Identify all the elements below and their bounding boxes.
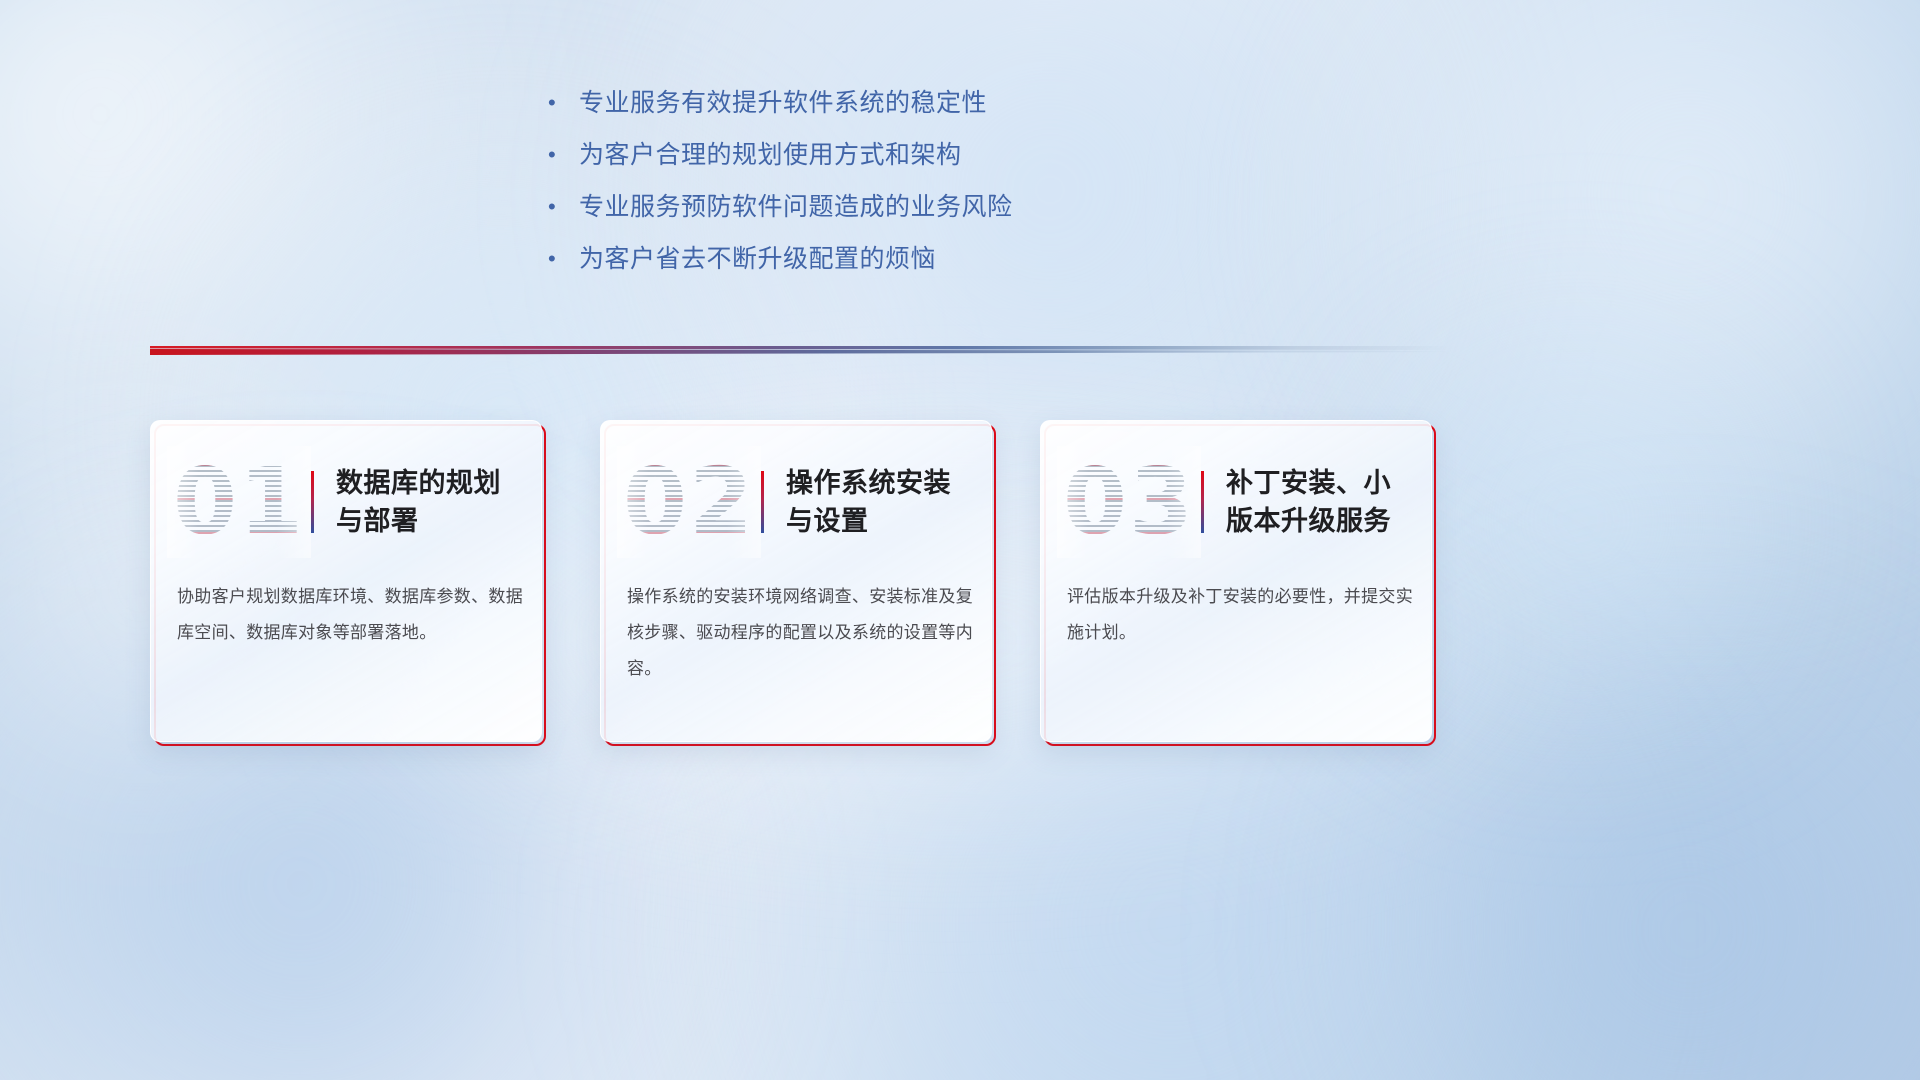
section-divider xyxy=(150,346,1450,364)
card-number-watermark: 03 03 xyxy=(1063,450,1195,554)
card-body-text: 协助客户规划数据库环境、数据库参数、数据库空间、数据库对象等部署落地。 xyxy=(177,579,523,651)
bullet-text: 专业服务有效提升软件系统的稳定性 xyxy=(579,88,987,118)
card-title-accent-bar xyxy=(761,471,764,533)
slide-content: • 专业服务有效提升软件系统的稳定性 • 为客户合理的规划使用方式和架构 • 专… xyxy=(0,0,1920,1080)
card-surface: 03 03 补丁安装、小版本升级服务 评估版本升级及补丁安装的必要性，并提交实施… xyxy=(1040,420,1432,742)
card-surface: 01 01 数据库的规划与部署 协助客户规划数据库环境、数据库参数、数据库空间、… xyxy=(150,420,542,742)
list-item: • 为客户合理的规划使用方式和架构 xyxy=(545,140,1545,192)
benefits-bullet-list: • 专业服务有效提升软件系统的稳定性 • 为客户合理的规划使用方式和架构 • 专… xyxy=(545,88,1545,296)
service-card[interactable]: 02 02 操作系统安装与设置 操作系统的安装环境网络调查、安装标准及复核步骤、… xyxy=(600,420,992,742)
bullet-text: 专业服务预防软件问题造成的业务风险 xyxy=(579,192,1013,222)
card-body-text: 评估版本升级及补丁安装的必要性，并提交实施计划。 xyxy=(1067,579,1413,651)
card-title-accent-bar xyxy=(311,471,314,533)
service-card-group: 01 01 数据库的规划与部署 协助客户规划数据库环境、数据库参数、数据库空间、… xyxy=(150,420,1450,745)
card-title-accent-bar xyxy=(1201,471,1204,533)
card-header: 01 01 数据库的规划与部署 xyxy=(151,447,542,557)
card-header: 02 02 操作系统安装与设置 xyxy=(601,447,992,557)
card-number-text-tint: 02 xyxy=(623,450,755,554)
card-body-text: 操作系统的安装环境网络调查、安装标准及复核步骤、驱动程序的配置以及系统的设置等内… xyxy=(627,579,973,687)
divider-body xyxy=(150,349,1450,355)
card-title: 操作系统安装与设置 xyxy=(786,464,992,540)
bullet-dot-icon: • xyxy=(545,140,579,170)
card-number-text-tint: 01 xyxy=(173,450,305,554)
card-number-watermark: 02 02 xyxy=(623,450,755,554)
card-title: 补丁安装、小版本升级服务 xyxy=(1226,464,1432,540)
card-surface: 02 02 操作系统安装与设置 操作系统的安装环境网络调查、安装标准及复核步骤、… xyxy=(600,420,992,742)
list-item: • 专业服务预防软件问题造成的业务风险 xyxy=(545,192,1545,244)
card-title: 数据库的规划与部署 xyxy=(336,464,542,540)
card-number-text-tint: 03 xyxy=(1063,450,1195,554)
card-number-watermark: 01 01 xyxy=(173,450,305,554)
service-card[interactable]: 01 01 数据库的规划与部署 协助客户规划数据库环境、数据库参数、数据库空间、… xyxy=(150,420,542,742)
bullet-dot-icon: • xyxy=(545,244,579,274)
card-header: 03 03 补丁安装、小版本升级服务 xyxy=(1041,447,1432,557)
list-item: • 专业服务有效提升软件系统的稳定性 xyxy=(545,88,1545,140)
bullet-text: 为客户合理的规划使用方式和架构 xyxy=(579,140,962,170)
service-card[interactable]: 03 03 补丁安装、小版本升级服务 评估版本升级及补丁安装的必要性，并提交实施… xyxy=(1040,420,1432,742)
bullet-text: 为客户省去不断升级配置的烦恼 xyxy=(579,244,936,274)
list-item: • 为客户省去不断升级配置的烦恼 xyxy=(545,244,1545,296)
bullet-dot-icon: • xyxy=(545,192,579,222)
bullet-dot-icon: • xyxy=(545,88,579,118)
